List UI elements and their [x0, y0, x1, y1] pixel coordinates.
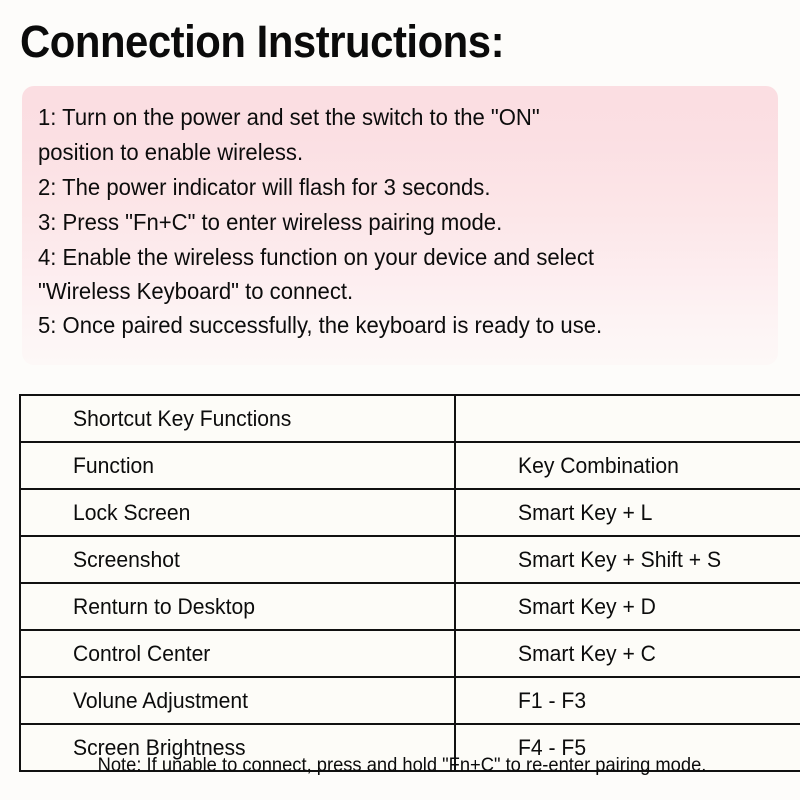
connection-instructions-panel: 1: Turn on the power and set the switch … [22, 86, 778, 365]
table-cell-combination: Smart Key + D [455, 583, 800, 630]
table-cell-function: Lock Screen [20, 489, 455, 536]
table-row: Lock Screen Smart Key + L [20, 489, 800, 536]
instruction-line-1-step: 1: Turn on the power and set the switch … [38, 100, 733, 135]
table-cell-function: Renturn to Desktop [20, 583, 455, 630]
instruction-line-5-step: 5: Once paired successfully, the keyboar… [38, 308, 733, 342]
function-label: Volune Adjustment [73, 688, 439, 714]
page-title: Connection Instructions: [20, 18, 504, 65]
table-row: Function Key Combination [20, 442, 800, 489]
function-label: Renturn to Desktop [73, 594, 439, 620]
banner-label: Shortcut Key Functions [73, 406, 439, 432]
table-cell-combination: Smart Key + L [455, 489, 800, 536]
function-label: Screenshot [73, 547, 439, 573]
shortcut-key-table: Shortcut Key Functions Function Key Comb… [19, 394, 800, 772]
table-row: Renturn to Desktop Smart Key + D [20, 583, 800, 630]
table-row: Control Center Smart Key + C [20, 630, 800, 677]
combination-label: Key Combination [518, 453, 800, 479]
combination-label: F1 - F3 [518, 688, 800, 714]
combination-label: Smart Key + Shift + S [518, 547, 800, 573]
function-label: Function [73, 453, 439, 479]
combination-label: Smart Key + D [518, 594, 800, 620]
instruction-line-3-step: 3: Press "Fn+C" to enter wireless pairin… [38, 205, 733, 240]
table-cell-function: Control Center [20, 630, 455, 677]
table-cell-function: Volune Adjustment [20, 677, 455, 724]
table-cell-function: Screenshot [20, 536, 455, 583]
table-cell-combination: Smart Key + C [455, 630, 800, 677]
table-row-banner: Shortcut Key Functions [20, 395, 800, 442]
combination-label: Smart Key + L [518, 500, 800, 526]
instruction-line-4-step: 4: Enable the wireless function on your … [38, 240, 733, 274]
table-row: Screenshot Smart Key + Shift + S [20, 536, 800, 583]
instruction-line-4-cont: "Wireless Keyboard" to connect. [38, 274, 733, 308]
table-cell-combination: Smart Key + Shift + S [455, 536, 800, 583]
table-row: Volune Adjustment F1 - F3 [20, 677, 800, 724]
table-cell-combination: F1 - F3 [455, 677, 800, 724]
footer-note: Note: If unable to connect, press and ho… [35, 755, 768, 777]
instruction-line-1-cont: position to enable wireless. [38, 135, 733, 170]
combination-label: Smart Key + C [518, 641, 800, 667]
instruction-line-2-step: 2: The power indicator will flash for 3 … [38, 170, 733, 205]
table-cell-combination: Key Combination [455, 442, 800, 489]
function-label: Control Center [73, 641, 439, 667]
table-cell-banner-title: Shortcut Key Functions [20, 395, 455, 442]
table-cell-function: Function [20, 442, 455, 489]
function-label: Lock Screen [73, 500, 439, 526]
table-cell-banner-empty [455, 395, 800, 442]
